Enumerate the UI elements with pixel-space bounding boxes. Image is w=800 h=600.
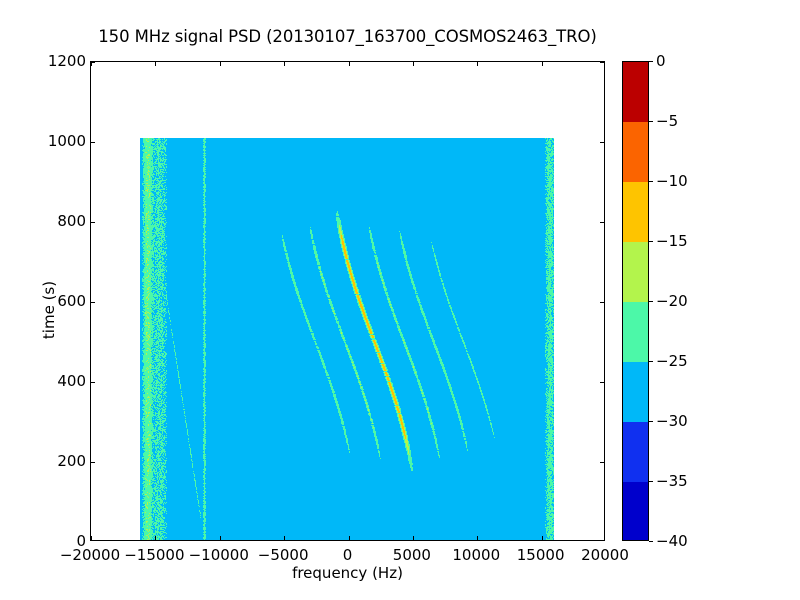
colorbar-band-cyan (623, 362, 648, 423)
y-axis-tick (91, 382, 95, 383)
colorbar-tick (649, 181, 653, 182)
x-axis-tick-label: −10000 (189, 546, 249, 564)
x-axis-tick (91, 536, 92, 540)
colorbar-tick-label: −30 (656, 412, 688, 430)
x-axis-tick (155, 62, 156, 66)
colorbar-band-dark-red (623, 62, 648, 123)
x-axis-tick (284, 536, 285, 540)
colorbar-tick-label: 0 (656, 52, 666, 70)
x-axis-tick (220, 62, 221, 66)
x-axis-tick (413, 62, 414, 66)
y-axis-tick-label: 600 (57, 292, 86, 310)
y-axis-tick (600, 382, 604, 383)
spectrogram-image[interactable] (91, 62, 605, 541)
x-axis-tick (220, 536, 221, 540)
spectrogram-axes[interactable] (90, 61, 605, 541)
y-axis-tick-label: 200 (57, 452, 86, 470)
y-axis-tick-label: 400 (57, 372, 86, 390)
colorbar-tick-label: −10 (656, 172, 688, 190)
colorbar-tick (649, 541, 653, 542)
x-axis-tick-label: 10000 (452, 546, 500, 564)
x-axis-tick-label: 15000 (517, 546, 565, 564)
y-axis-tick (600, 302, 604, 303)
y-axis-label: time (s) (40, 250, 58, 370)
x-axis-tick (284, 62, 285, 66)
colorbar-tick-label: −15 (656, 232, 688, 250)
colorbar-tick (649, 481, 653, 482)
colorbar-tick-label: −40 (656, 532, 688, 550)
colorbar-band-amber (623, 182, 648, 243)
figure-canvas: 150 MHz signal PSD (20130107_163700_COSM… (0, 0, 800, 600)
x-axis-tick-label: 5000 (393, 546, 431, 564)
colorbar-band-yellow-green (623, 242, 648, 303)
colorbar-tick (649, 301, 653, 302)
y-axis-tick (91, 462, 95, 463)
x-axis-tick (349, 62, 350, 66)
x-axis-tick (349, 536, 350, 540)
x-axis-tick (155, 536, 156, 540)
y-axis-tick (91, 62, 95, 63)
y-axis-tick-label: 1000 (48, 132, 86, 150)
y-axis-tick (600, 142, 604, 143)
colorbar-band-dark-blue (623, 482, 648, 541)
x-axis-tick-label: 20000 (581, 546, 629, 564)
colorbar-tick (649, 121, 653, 122)
colorbar[interactable] (622, 61, 649, 541)
y-axis-tick-label: 1200 (48, 52, 86, 70)
colorbar-tick-label: −25 (656, 352, 688, 370)
x-axis-tick-label: 0 (343, 546, 353, 564)
y-axis-tick (600, 62, 604, 63)
y-axis-tick (600, 222, 604, 223)
colorbar-tick (649, 361, 653, 362)
x-axis-tick (413, 536, 414, 540)
x-axis-tick (477, 536, 478, 540)
colorbar-tick (649, 61, 653, 62)
y-axis-tick (91, 302, 95, 303)
x-axis-tick (542, 536, 543, 540)
colorbar-band-blue (623, 422, 648, 483)
colorbar-band-orange (623, 122, 648, 183)
y-axis-tick-label: 0 (76, 532, 86, 550)
y-axis-tick-label: 800 (57, 212, 86, 230)
x-axis-tick (477, 62, 478, 66)
y-axis-tick (91, 142, 95, 143)
x-axis-tick-label: −5000 (258, 546, 309, 564)
colorbar-tick-label: −5 (656, 112, 678, 130)
y-axis-tick (600, 462, 604, 463)
x-axis-label: frequency (Hz) (90, 564, 605, 582)
x-axis-tick (542, 62, 543, 66)
x-axis-tick-label: −20000 (60, 546, 120, 564)
colorbar-band-spring-green (623, 302, 648, 363)
y-axis-tick (91, 222, 95, 223)
plot-title: 150 MHz signal PSD (20130107_163700_COSM… (0, 27, 695, 46)
colorbar-tick-label: −35 (656, 472, 688, 490)
colorbar-tick-label: −20 (656, 292, 688, 310)
colorbar-tick (649, 241, 653, 242)
x-axis-tick-label: −15000 (124, 546, 184, 564)
colorbar-tick (649, 421, 653, 422)
